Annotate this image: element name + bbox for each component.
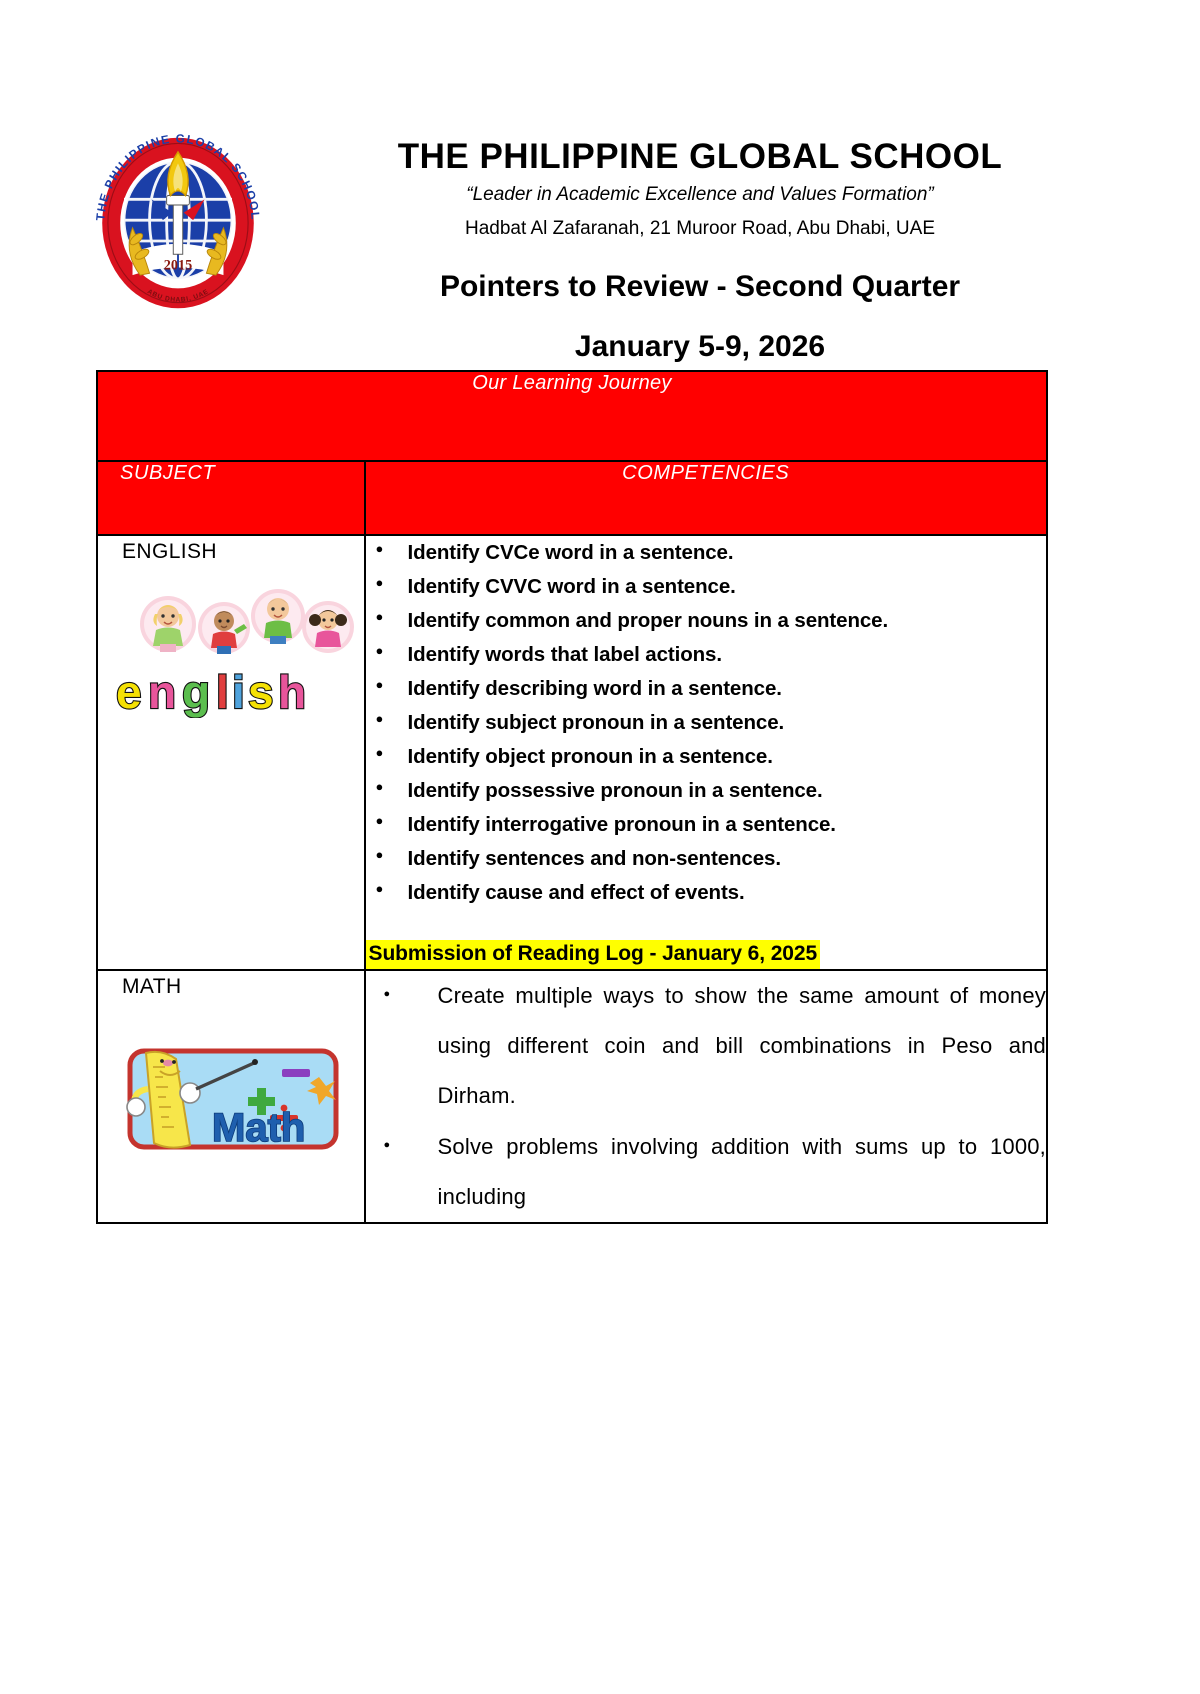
list-item: Identify sentences and non-sentences. <box>366 842 1046 876</box>
table-row: MATH <box>97 970 1047 1223</box>
document-page: 2015 THE PHILIPPINE GLOBAL SCHOOL ABU DH… <box>0 0 1200 1694</box>
math-competency-list: Create multiple ways to show the same am… <box>366 971 1046 1222</box>
list-item: Create multiple ways to show the same am… <box>366 971 1046 1121</box>
svg-text:e: e <box>116 666 142 718</box>
svg-text:l: l <box>216 666 229 718</box>
list-item: Identify subject pronoun in a sentence. <box>366 706 1046 740</box>
page-date-range: January 5-9, 2026 <box>330 328 1070 366</box>
school-name: THE PHILIPPINE GLOBAL SCHOOL <box>330 138 1070 176</box>
school-address: Hadbat Al Zafaranah, 21 Muroor Road, Abu… <box>330 218 1070 241</box>
list-item: Identify common and proper nouns in a se… <box>366 604 1046 638</box>
math-ruler-clipart-icon: Math <box>120 1045 342 1153</box>
subject-header-cell: SUBJECT <box>97 461 365 535</box>
competencies-cell-english: Identify CVCe word in a sentence. Identi… <box>365 535 1047 970</box>
svg-text:n: n <box>148 666 176 718</box>
competencies-header-cell: COMPETENCIES <box>365 461 1047 535</box>
english-kids-clipart-icon: e n g l i s h <box>112 586 356 718</box>
list-item: Identify describing word in a sentence. <box>366 672 1046 706</box>
table-banner-row: Our Learning Journey <box>97 371 1047 461</box>
subject-label-math: MATH <box>98 971 364 999</box>
list-item: Identify object pronoun in a sentence. <box>366 740 1046 774</box>
list-item: Identify words that label actions. <box>366 638 1046 672</box>
list-item: Identify CVVC word in a sentence. <box>366 570 1046 604</box>
competencies-cell-math: Create multiple ways to show the same am… <box>365 970 1047 1223</box>
document-header: 2015 THE PHILIPPINE GLOBAL SCHOOL ABU DH… <box>0 0 1200 370</box>
svg-text:h: h <box>278 666 306 718</box>
list-item: Identify cause and effect of events. <box>366 876 1046 910</box>
list-item: Identify CVCe word in a sentence. <box>366 536 1046 570</box>
list-item: Identify possessive pronoun in a sentenc… <box>366 774 1046 808</box>
logo-year: 2015 <box>164 257 192 273</box>
reading-log-highlight-note: Submission of Reading Log - January 6, 2… <box>366 940 820 969</box>
math-word: Math <box>212 1106 305 1150</box>
banner-cell: Our Learning Journey <box>97 371 1047 461</box>
column-header-competencies: COMPETENCIES <box>366 462 1046 485</box>
svg-text:i: i <box>232 666 245 718</box>
school-tagline: “Leader in Academic Excellence and Value… <box>330 184 1070 207</box>
table-header-row: SUBJECT COMPETENCIES <box>97 461 1047 535</box>
subject-cell-math: MATH <box>97 970 365 1223</box>
svg-text:g: g <box>182 666 210 718</box>
list-item: Identify interrogative pronoun in a sent… <box>366 808 1046 842</box>
subject-label-english: ENGLISH <box>98 536 364 564</box>
column-header-subject: SUBJECT <box>98 462 364 485</box>
table-row: ENGLISH <box>97 535 1047 970</box>
school-seal-logo: 2015 THE PHILIPPINE GLOBAL SCHOOL ABU DH… <box>78 133 278 313</box>
pointers-table: Our Learning Journey SUBJECT COMPETENCIE… <box>96 370 1048 1224</box>
english-competency-list: Identify CVCe word in a sentence. Identi… <box>366 536 1046 910</box>
school-seal-icon: 2015 THE PHILIPPINE GLOBAL SCHOOL ABU DH… <box>78 133 278 313</box>
page-title: Pointers to Review - Second Quarter <box>330 268 1070 306</box>
subject-cell-english: ENGLISH <box>97 535 365 970</box>
header-text-block: THE PHILIPPINE GLOBAL SCHOOL “Leader in … <box>330 138 1070 240</box>
list-item: Solve problems involving addition with s… <box>366 1122 1046 1222</box>
svg-text:s: s <box>248 666 274 718</box>
banner-text: Our Learning Journey <box>472 372 671 394</box>
